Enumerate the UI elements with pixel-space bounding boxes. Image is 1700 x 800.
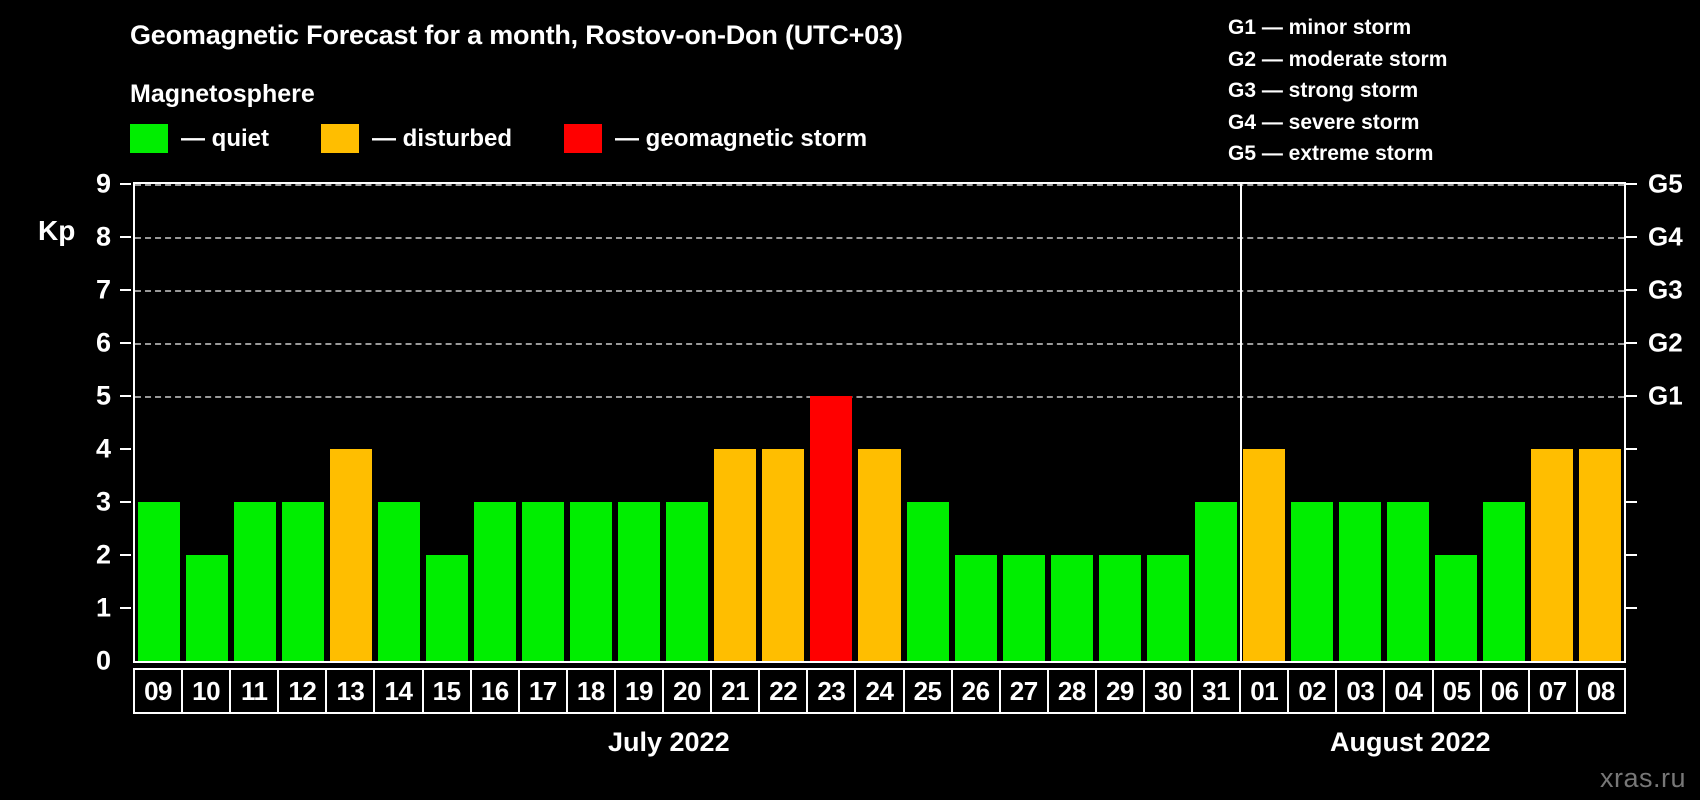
bar-slot[interactable] [1096,184,1144,661]
date-cell[interactable]: 16 [472,670,520,712]
y-tick-label: 8 [96,222,111,253]
bar[interactable] [907,502,949,661]
date-cell[interactable]: 03 [1337,670,1385,712]
date-cell[interactable]: 10 [183,670,231,712]
bar[interactable] [762,449,804,661]
legend-swatch-icon [130,124,168,153]
y-tick-mark [120,236,131,238]
date-cell[interactable]: 24 [856,670,904,712]
legend-swatch-icon [564,124,602,153]
legend-entry: — quiet [130,124,269,153]
g-legend-line: G4 — severe storm [1228,107,1447,139]
y-tick-label: 0 [96,646,111,677]
bar-slot[interactable] [1192,184,1240,661]
y-axis-gscale: G5G4G3G2G1 [1626,182,1700,663]
bar-slot[interactable] [952,184,1000,661]
bar[interactable] [474,502,516,661]
date-cell[interactable]: 20 [664,670,712,712]
legend-label: — quiet [181,125,269,153]
bar-slot[interactable] [567,184,615,661]
bar[interactable] [138,502,180,661]
bar[interactable] [186,555,228,661]
date-cell[interactable]: 08 [1578,670,1624,712]
bar[interactable] [1291,502,1333,661]
date-cell[interactable]: 14 [375,670,423,712]
g-tick-label: G5 [1648,169,1683,200]
bar-slot[interactable] [183,184,231,661]
month-label-july: July 2022 [608,727,730,758]
bar[interactable] [282,502,324,661]
bar-slot[interactable] [1000,184,1048,661]
bar-slot[interactable] [471,184,519,661]
g-tick-label: G1 [1648,381,1683,412]
g-legend-line: G2 — moderate storm [1228,44,1447,76]
bar-slot[interactable] [423,184,471,661]
bar[interactable] [714,449,756,661]
date-cell[interactable]: 01 [1241,670,1289,712]
bar-slot[interactable] [855,184,903,661]
bar-slot[interactable] [1144,184,1192,661]
bar-slot[interactable] [807,184,855,661]
g-tick-mark [1626,289,1637,291]
date-cell[interactable]: 21 [712,670,760,712]
bars-layer [135,184,1624,661]
bar-slot[interactable] [759,184,807,661]
g-legend-line: G3 — strong storm [1228,75,1447,107]
date-cell[interactable]: 02 [1289,670,1337,712]
g-tick-mark [1626,395,1637,397]
y-tick-label: 6 [96,328,111,359]
bar-slot[interactable] [375,184,423,661]
month-divider-line [1240,182,1242,663]
legend-entry: — geomagnetic storm [564,124,867,153]
bar[interactable] [810,396,852,661]
bar-slot[interactable] [615,184,663,661]
bar[interactable] [1003,555,1045,661]
y-tick-mark [120,607,131,609]
y-tick-mark [120,289,131,291]
bar-slot[interactable] [519,184,567,661]
date-cell[interactable]: 23 [808,670,856,712]
y-tick-label: 7 [96,275,111,306]
y-tick-mark [120,183,131,185]
y-tick-label: 9 [96,169,111,200]
date-cell[interactable]: 09 [135,670,183,712]
bar-slot[interactable] [663,184,711,661]
bar[interactable] [1339,502,1381,661]
y-tick-label: 2 [96,540,111,571]
date-cell[interactable]: 29 [1097,670,1145,712]
bar[interactable] [1099,555,1141,661]
bar-slot[interactable] [1480,184,1528,661]
date-cell[interactable]: 05 [1434,670,1482,712]
date-cell[interactable]: 13 [327,670,375,712]
date-cell[interactable]: 15 [424,670,472,712]
y-tick-mark [120,554,131,556]
bar[interactable] [1195,502,1237,661]
g-tick-minor-mark [1626,554,1637,556]
bar[interactable] [234,502,276,661]
date-cell[interactable]: 04 [1385,670,1433,712]
date-cell[interactable]: 28 [1049,670,1097,712]
g-legend-line: G5 — extreme storm [1228,138,1447,170]
bar[interactable] [1051,555,1093,661]
g-tick-mark [1626,342,1637,344]
g-tick-mark [1626,183,1637,185]
bar[interactable] [330,449,372,661]
g-tick-label: G2 [1648,328,1683,359]
bar-slot[interactable] [1384,184,1432,661]
bar-slot[interactable] [1048,184,1096,661]
g-tick-mark [1626,236,1637,238]
g-tick-minor-mark [1626,501,1637,503]
y-tick-mark [120,342,131,344]
bar-slot[interactable] [279,184,327,661]
bar[interactable] [955,555,997,661]
page-title: Geomagnetic Forecast for a month, Rostov… [130,20,903,51]
g-tick-minor-mark [1626,448,1637,450]
bar-slot[interactable] [327,184,375,661]
bar[interactable] [522,502,564,661]
bar[interactable] [1147,555,1189,661]
watermark: xras.ru [1600,763,1686,794]
color-legend: — quiet— disturbed— geomagnetic storm [130,124,867,153]
date-cell[interactable]: 07 [1530,670,1578,712]
bar[interactable] [1579,449,1621,661]
bar[interactable] [1243,449,1285,661]
date-cell[interactable]: 06 [1482,670,1530,712]
legend-label: — disturbed [372,125,512,153]
bar-slot[interactable] [1576,184,1624,661]
bar-slot[interactable] [1336,184,1384,661]
date-cell[interactable]: 27 [1001,670,1049,712]
bar-slot[interactable] [711,184,759,661]
y-axis-kp: 9876543210 [0,182,133,663]
bar[interactable] [858,449,900,661]
date-cell[interactable]: 22 [760,670,808,712]
date-cell[interactable]: 19 [616,670,664,712]
plot-area [133,182,1626,663]
date-cell[interactable]: 31 [1193,670,1241,712]
g-legend-line: G1 — minor storm [1228,12,1447,44]
magnetosphere-label: Magnetosphere [130,80,315,109]
bar[interactable] [378,502,420,661]
legend-swatch-icon [321,124,359,153]
g-tick-minor-mark [1626,607,1637,609]
bar-slot[interactable] [1432,184,1480,661]
date-cell[interactable]: 11 [231,670,279,712]
y-axis-title: Kp [38,215,75,247]
y-tick-label: 5 [96,381,111,412]
date-cell[interactable]: 25 [905,670,953,712]
month-label-august: August 2022 [1330,727,1491,758]
bar-slot[interactable] [1528,184,1576,661]
legend-entry: — disturbed [321,124,512,153]
y-tick-mark [120,395,131,397]
date-cell[interactable]: 26 [953,670,1001,712]
legend-label: — geomagnetic storm [615,125,867,153]
bar[interactable] [426,555,468,661]
date-cell[interactable]: 30 [1145,670,1193,712]
plot-inner [135,184,1624,661]
bar-slot[interactable] [1288,184,1336,661]
bar[interactable] [666,502,708,661]
bar[interactable] [1531,449,1573,661]
y-tick-label: 3 [96,487,111,518]
bar[interactable] [618,502,660,661]
y-tick-mark [120,501,131,503]
bar-slot[interactable] [904,184,952,661]
bar[interactable] [1387,502,1429,661]
bar-slot[interactable] [1240,184,1288,661]
date-cell[interactable]: 12 [279,670,327,712]
date-cell[interactable]: 17 [520,670,568,712]
g-tick-label: G4 [1648,222,1683,253]
y-tick-label: 4 [96,434,111,465]
y-tick-label: 1 [96,593,111,624]
g-scale-legend: G1 — minor stormG2 — moderate stormG3 — … [1228,12,1447,170]
bar[interactable] [570,502,612,661]
date-axis: 0910111213141516171819202122232425262728… [133,668,1626,714]
bar-slot[interactable] [135,184,183,661]
y-tick-mark [120,448,131,450]
bar[interactable] [1483,502,1525,661]
date-cell[interactable]: 18 [568,670,616,712]
bar[interactable] [1435,555,1477,661]
g-tick-label: G3 [1648,275,1683,306]
bar-slot[interactable] [231,184,279,661]
